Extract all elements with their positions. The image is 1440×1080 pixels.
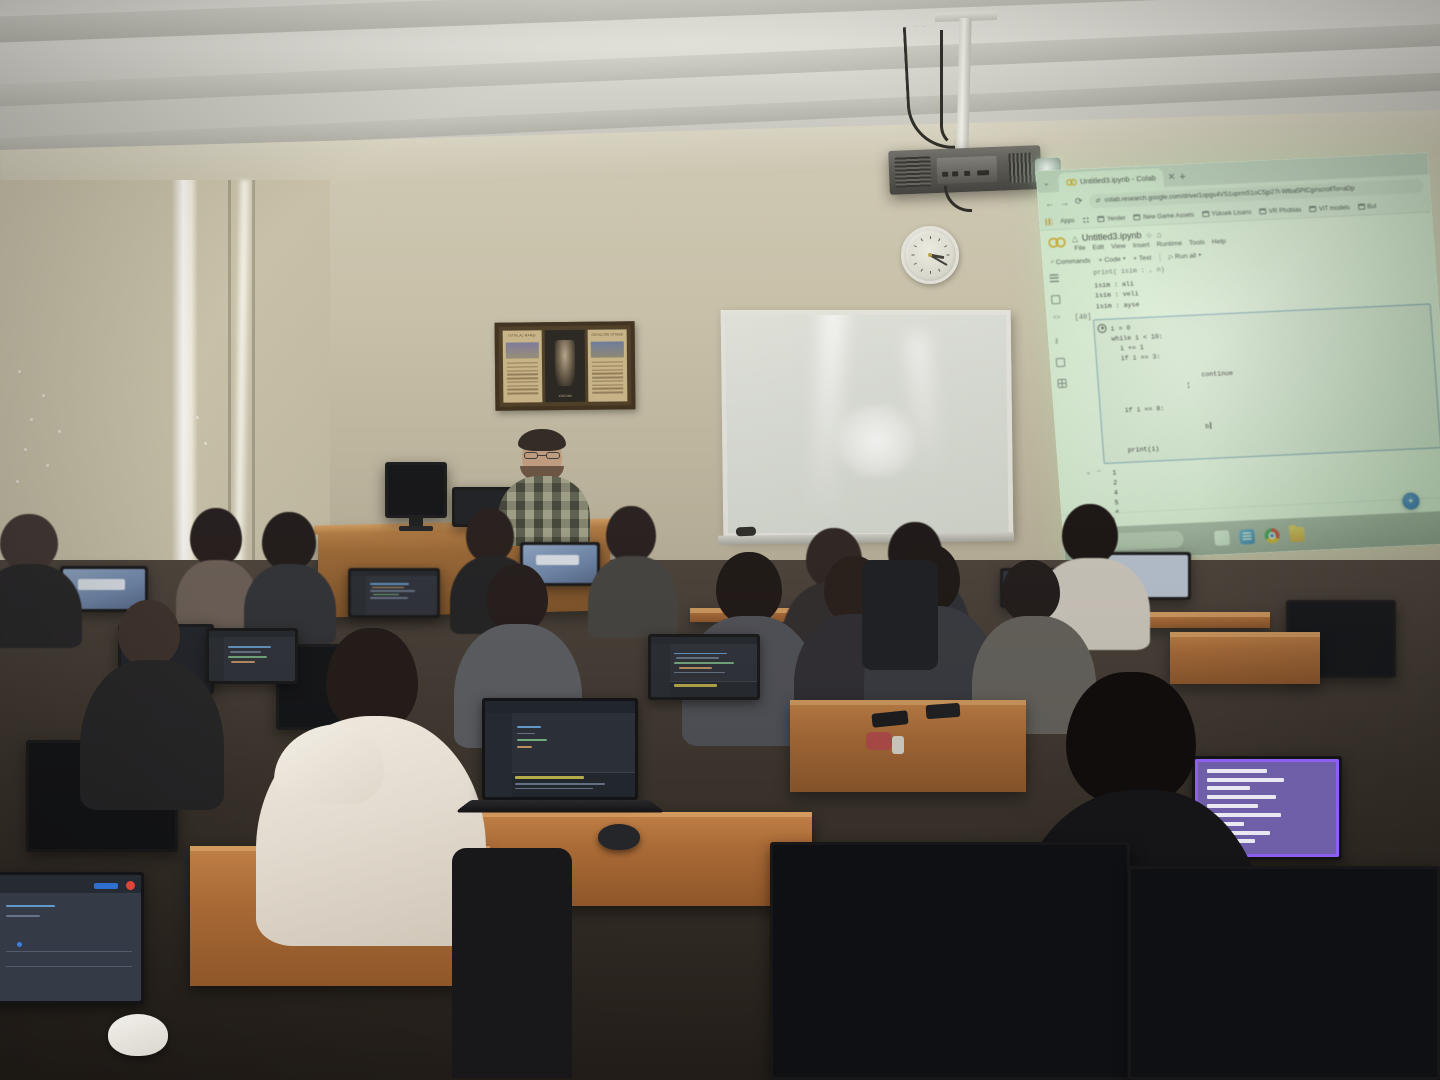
menu-help[interactable]: Help (1212, 238, 1226, 246)
code-snippets-icon[interactable] (1052, 316, 1062, 325)
student-laptop (206, 628, 298, 684)
bookmark-item[interactable]: ViT models (1309, 204, 1350, 213)
plaque-caption: ATATÜRK (545, 394, 586, 398)
table-of-contents-icon[interactable] (1049, 274, 1059, 283)
tab-list-caret-icon[interactable]: ⌄ (1042, 177, 1055, 193)
notebook-title[interactable]: Untitled3.ipynb (1082, 230, 1142, 243)
bookmark-label: New Game Assets (1143, 211, 1194, 220)
chrome-icon[interactable] (1264, 528, 1280, 544)
site-info-icon[interactable]: ⇄ (1095, 197, 1101, 204)
menu-runtime[interactable]: Runtime (1156, 240, 1182, 248)
folder-icon (1259, 208, 1266, 214)
student-head (326, 628, 418, 730)
folder-icon (1309, 206, 1316, 212)
colab-application: △ Untitled3.ipynb ☆ ⌂ File Edit View Ins… (1040, 212, 1440, 529)
office-chair (452, 848, 572, 1078)
collapse-output-chevron-icon[interactable]: ⌄ (1086, 468, 1091, 477)
plaque-panel-gencligehitabe: GENÇLİĞE HİTABE (588, 329, 627, 401)
bookmark-label: Bul (1367, 203, 1376, 210)
front-wooden-desk (790, 700, 1026, 792)
bookmark-label: ViT models (1319, 204, 1350, 212)
close-tab-icon[interactable]: ✕ (1167, 171, 1176, 186)
folder-icon (1358, 204, 1365, 210)
folder-icon (1202, 211, 1209, 217)
foreground-monitor (1128, 866, 1440, 1080)
plaque-panel-istiklal: İSTİKLAL MARŞI (503, 330, 542, 402)
new-tab-icon[interactable]: + (1179, 171, 1187, 186)
menu-insert[interactable]: Insert (1133, 242, 1151, 250)
commands-button[interactable]: ⌕ Commands (1050, 257, 1091, 266)
projector-cable (940, 30, 962, 148)
red-object (866, 732, 892, 750)
menu-edit[interactable]: Edit (1092, 244, 1104, 252)
folder-icon (1133, 214, 1140, 220)
run-all-label: Run all (1175, 252, 1197, 260)
file-explorer-icon[interactable] (1289, 527, 1305, 543)
bookmark-item[interactable]: Yeniler (1097, 214, 1126, 222)
files-folder-icon[interactable] (1055, 358, 1065, 367)
code-cell[interactable]: i = 0 while i < 10: i += 1 if i == 3: co… (1093, 303, 1440, 464)
laptop-keyboard-base[interactable] (455, 800, 666, 812)
plaque-panel-portrait: ATATÜRK (544, 330, 585, 402)
chevron-down-icon[interactable]: ▾ (1198, 252, 1201, 258)
back-icon[interactable]: ← (1045, 198, 1055, 208)
bookmark-item[interactable]: VR Phobias (1259, 206, 1302, 215)
classroom-scene: İSTİKLAL MARŞI ATATÜRK GENÇLİĞE HİTABE (0, 0, 1440, 1080)
code-line: continue (1185, 370, 1233, 379)
execution-count-label: [40] (1074, 313, 1091, 322)
folder-icon (1097, 216, 1104, 222)
share-drive-icon[interactable]: ⌂ (1156, 230, 1162, 239)
instructor-hair (518, 429, 566, 451)
output-arrow-icon: → (1096, 467, 1101, 475)
foreground-monitor (770, 842, 1130, 1080)
run-cell-button[interactable] (1097, 324, 1107, 333)
apps-icon[interactable] (1045, 218, 1053, 225)
terminal-grid-icon[interactable] (1057, 379, 1067, 388)
add-text-label: + Text (1133, 254, 1152, 262)
star-icon[interactable]: ☆ (1145, 230, 1153, 239)
commands-label: Commands (1056, 257, 1091, 266)
forward-icon[interactable]: → (1060, 197, 1070, 207)
menu-tools[interactable]: Tools (1189, 239, 1205, 247)
colab-logo-icon (1047, 236, 1068, 250)
colab-notebook-content: print( isim : , n) isim : ali isim : vel… (1063, 250, 1440, 528)
whiteboard (721, 310, 1014, 538)
foreground-laptop (482, 698, 638, 800)
secrets-key-icon[interactable]: ⚷ (1054, 337, 1064, 346)
run-all-button[interactable]: ▷ Run all ▾ (1168, 252, 1201, 261)
student-laptop (348, 568, 440, 618)
add-text-cell-button[interactable]: + Text (1133, 254, 1152, 262)
projected-browser-screen: ⌄ Untitled3.ipynb - Colab ✕ + ← → ⟳ ⇄ co… (1036, 153, 1440, 562)
student-desk (1170, 632, 1320, 684)
add-code-cell-button[interactable]: + Code ▾ (1098, 255, 1125, 263)
student-head (1066, 672, 1196, 804)
search-icon[interactable] (1239, 529, 1255, 545)
bookmark-label: VR Phobias (1269, 206, 1302, 215)
reload-icon[interactable]: ⟳ (1075, 196, 1083, 207)
search-icon: ⌕ (1050, 259, 1054, 266)
white-bottle (892, 736, 904, 754)
chevron-down-icon[interactable]: ▾ (1122, 256, 1125, 262)
bookmark-item[interactable]: Bul (1357, 203, 1376, 211)
add-code-label: + Code (1098, 256, 1121, 264)
portrait-image (555, 340, 575, 386)
toolbar-divider (1159, 253, 1161, 261)
find-replace-icon[interactable] (1050, 295, 1060, 304)
plaque-title-left: İSTİKLAL MARŞI (503, 333, 542, 337)
plaque-title-right: GENÇLİĞE HİTABE (588, 332, 627, 336)
bookmarks-apps-label[interactable]: Apps (1060, 217, 1075, 225)
whiteboard-eraser (736, 527, 756, 537)
bottom-left-laptop (0, 872, 144, 1004)
play-icon: ▷ (1168, 253, 1173, 260)
browser-tab-title: Untitled3.ipynb - Colab (1080, 173, 1157, 186)
clock-face (908, 233, 952, 277)
code-line: b (1189, 423, 1209, 431)
student-laptop (648, 634, 760, 700)
bookmark-label: Yeniler (1107, 214, 1126, 222)
apps-grid-icon[interactable] (1082, 216, 1090, 223)
computer-mouse[interactable] (598, 824, 640, 850)
colab-body: ⚷ print( isim : , n) isim : ali isim : v… (1043, 250, 1440, 529)
wall-clock (901, 226, 959, 284)
instructor-monitor (385, 462, 447, 518)
computer-mouse-white[interactable] (108, 1014, 168, 1056)
eyeglasses (524, 452, 560, 459)
menu-view[interactable]: View (1111, 243, 1126, 251)
clock-center-pin (928, 253, 932, 257)
wall-plaque-frame: İSTİKLAL MARŞI ATATÜRK GENÇLİĞE HİTABE (495, 321, 636, 410)
office-chair (862, 560, 938, 670)
start-icon[interactable] (1214, 530, 1230, 546)
menu-file[interactable]: File (1074, 245, 1085, 252)
bookmark-item[interactable]: Yüksek Lisans (1202, 208, 1252, 217)
drive-icon: △ (1071, 234, 1078, 243)
smartphone (926, 703, 961, 719)
bookmark-label: Yüksek Lisans (1211, 208, 1251, 217)
text-cursor-icon: I (1187, 381, 1191, 393)
caret-icon (1210, 422, 1212, 429)
bookmark-item[interactable]: New Game Assets (1133, 211, 1194, 221)
colab-favicon-icon (1066, 178, 1077, 186)
